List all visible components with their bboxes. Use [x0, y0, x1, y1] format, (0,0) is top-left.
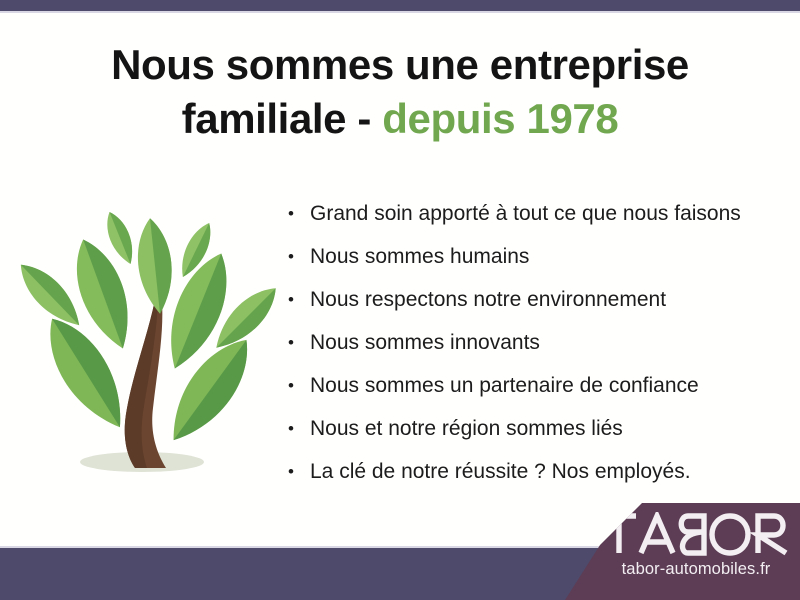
value-bullet-list: Grand soin apporté à tout ce que nous fa… — [286, 192, 786, 493]
list-item: Nous respectons notre environnement — [286, 278, 786, 321]
list-item: Nous sommes innovants — [286, 321, 786, 364]
list-item: Nous et notre région sommes liés — [286, 407, 786, 450]
headline-line-1: Nous sommes une entreprise — [0, 38, 800, 92]
list-item: Nous sommes humains — [286, 235, 786, 278]
list-item: Grand soin apporté à tout ce que nous fa… — [286, 192, 786, 235]
list-item-label: Nous et notre région sommes liés — [310, 417, 623, 440]
list-item: Nous sommes un partenaire de confiance — [286, 364, 786, 407]
headline-accent-text: depuis 1978 — [382, 95, 618, 142]
tree-illustration — [14, 178, 278, 484]
list-item: La clé de notre réussite ? Nos employés. — [286, 450, 786, 493]
list-item-label: Nous sommes un partenaire de confiance — [310, 374, 699, 397]
headline-line-2-text: familiale - — [182, 95, 383, 142]
page-title: Nous sommes une entreprise familiale - d… — [0, 38, 800, 146]
headline-line-2: familiale - depuis 1978 — [0, 92, 800, 146]
list-item-label: Grand soin apporté à tout ce que nous fa… — [310, 202, 741, 225]
logo-tagline: tabor-automobiles.fr — [602, 560, 790, 579]
list-item-label: La clé de notre réussite ? Nos employés. — [310, 460, 691, 483]
tree-leaf — [134, 217, 177, 316]
list-item-label: Nous sommes innovants — [310, 331, 540, 354]
slide-canvas: Nous sommes une entreprise familiale - d… — [0, 0, 800, 600]
headline-line-1-text: Nous sommes une entreprise — [111, 41, 689, 88]
tabor-wordmark — [600, 512, 790, 556]
list-item-label: Nous respectons notre environnement — [310, 288, 666, 311]
top-accent-bar — [0, 0, 800, 13]
list-item-label: Nous sommes humains — [310, 245, 529, 268]
